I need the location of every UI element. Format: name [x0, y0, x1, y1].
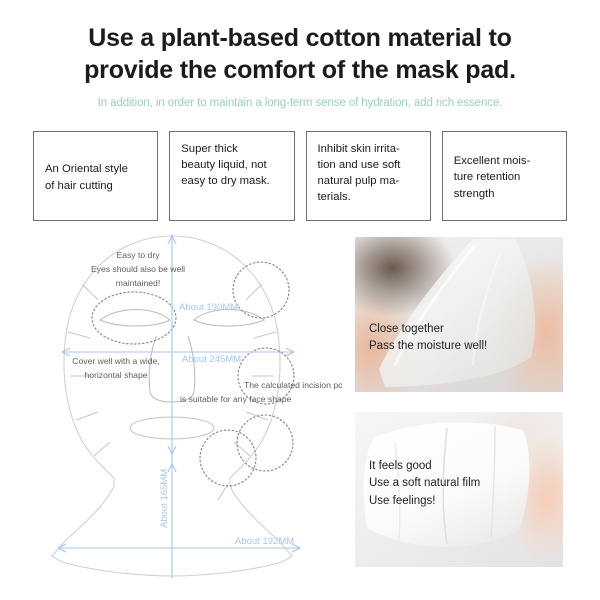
- annotation-incision-line-2: is suitable for any face shape: [180, 394, 292, 404]
- photo-moisture-sheet-caption: Close together Pass the moisture well!: [369, 321, 487, 356]
- feature-3-line-1: Inhibit skin irrita-: [318, 141, 420, 157]
- feature-box-2: Super thick beauty liquid, not easy to d…: [169, 131, 294, 221]
- feature-box-1: An Oriental style of hair cutting: [33, 131, 158, 221]
- feature-box-row: An Oriental style of hair cutting Super …: [33, 131, 567, 221]
- feature-2-line-2: beauty liquid, not: [181, 157, 283, 173]
- dimension-label-width-face: About 245MM: [182, 354, 241, 365]
- annotation-eye-line-3: maintained!: [116, 278, 160, 288]
- feature-box-1-text: An Oriental style of hair cutting: [45, 161, 147, 193]
- headline-line-2: provide the comfort of the mask pad.: [50, 54, 550, 86]
- feature-box-3-text: Inhibit skin irrita- tion and use soft n…: [318, 141, 420, 205]
- feature-3-line-4: terials.: [318, 189, 420, 205]
- page-title: Use a plant-based cotton material to pro…: [50, 22, 550, 86]
- sheet-overlay-icon: [355, 237, 563, 392]
- feature-4-line-1: Excellent mois-: [454, 153, 556, 169]
- product-infographic: Use a plant-based cotton material to pro…: [0, 0, 600, 600]
- annotation-cheek-line-1: Cover well with a wide,: [72, 356, 159, 366]
- feature-box-3: Inhibit skin irrita- tion and use soft n…: [306, 131, 431, 221]
- dimension-label-width-bottom: About 192MM: [235, 536, 294, 547]
- photo-cotton-film: It feels good Use a soft natural film Us…: [355, 412, 563, 567]
- feature-4-line-3: strength: [454, 186, 556, 202]
- headline-line-1: Use a plant-based cotton material to: [50, 22, 550, 54]
- mask-pattern-diagram: About 190MM About 245MM About 192MM Abou…: [22, 228, 342, 578]
- photo-2-caption-line-3: Use feelings!: [369, 493, 480, 510]
- annotation-eye-line-2: Eyes should also be well: [91, 264, 185, 274]
- feature-1-line-1: An Oriental style: [45, 161, 147, 177]
- feature-2-line-1: Super thick: [181, 141, 283, 157]
- photo-cotton-film-caption: It feels good Use a soft natural film Us…: [369, 458, 480, 510]
- annotation-cheek-line-2: horizontal shape: [84, 370, 147, 380]
- photo-1-caption-line-2: Pass the moisture well!: [369, 338, 487, 355]
- subtitle: In addition, in order to maintain a long…: [40, 97, 560, 109]
- dimension-label-height-upper: About 190MM: [179, 302, 238, 313]
- annotation-eye-line-1: Easy to dry: [117, 250, 161, 260]
- feature-4-line-2: ture retention: [454, 169, 556, 185]
- feature-box-2-text: Super thick beauty liquid, not easy to d…: [181, 141, 283, 189]
- dimension-label-height-lower: About 165MM: [159, 469, 170, 528]
- feature-box-4: Excellent mois- ture retention strength: [442, 131, 567, 221]
- annotation-incision-line-1: The calculated incision position: [244, 380, 342, 390]
- photo-1-caption-line-1: Close together: [369, 321, 487, 338]
- eye-highlight-circle-icon: [92, 292, 176, 344]
- feature-1-line-2: of hair cutting: [45, 178, 147, 194]
- feature-3-line-3: natural pulp ma-: [318, 173, 420, 189]
- feature-box-4-text: Excellent mois- ture retention strength: [454, 153, 556, 201]
- feature-2-line-3: easy to dry mask.: [181, 173, 283, 189]
- feature-3-line-2: tion and use soft: [318, 157, 420, 173]
- photo-2-caption-line-1: It feels good: [369, 458, 480, 475]
- photo-2-caption-line-2: Use a soft natural film: [369, 475, 480, 492]
- photo-moisture-sheet: Close together Pass the moisture well!: [355, 237, 563, 392]
